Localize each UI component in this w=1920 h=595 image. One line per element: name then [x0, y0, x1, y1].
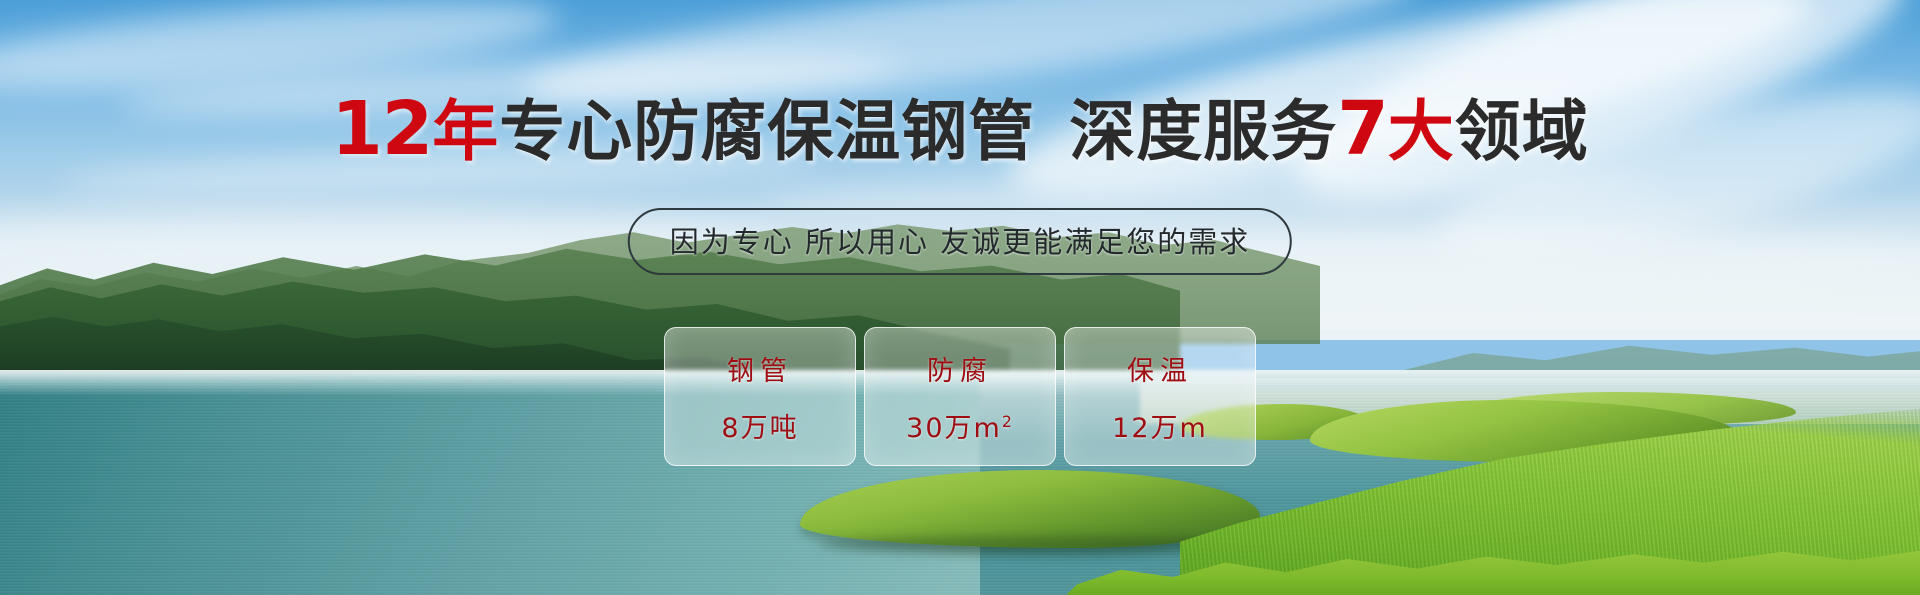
stat-card-anticorrosion[interactable]: 防腐 30万m2 — [864, 327, 1056, 466]
headline-fields-unit: 大 — [1388, 93, 1455, 170]
headline-years-unit: 年 — [432, 93, 499, 170]
stat-card-group: 钢管 8万吨 防腐 30万m2 保温 12万m — [0, 327, 1920, 466]
banner-headline: 12年专心防腐保温钢管深度服务7大领域 — [0, 92, 1920, 166]
stat-value-text: 8万吨 — [721, 413, 798, 444]
headline-main-text: 专心防腐保温钢管 — [499, 93, 1035, 170]
stat-card-insulation[interactable]: 保温 12万m — [1064, 327, 1256, 466]
stat-value-text: 12万m — [1112, 413, 1208, 444]
headline-fields-text: 领域 — [1455, 93, 1589, 170]
stat-card-value: 12万m — [1112, 406, 1208, 445]
banner-subtitle-pill: 因为专心 所以用心 友诚更能满足您的需求 — [628, 208, 1292, 275]
stat-card-title: 防腐 — [927, 349, 993, 388]
stat-value-superscript: 2 — [1002, 412, 1014, 431]
stat-card-title: 钢管 — [727, 349, 793, 388]
headline-service-text: 深度服务 — [1069, 93, 1337, 170]
headline-fields-number: 7 — [1337, 86, 1388, 172]
stat-card-steel-pipe[interactable]: 钢管 8万吨 — [664, 327, 856, 466]
stat-value-text: 30万m — [906, 413, 1002, 444]
hero-banner: 12年专心防腐保温钢管深度服务7大领域 因为专心 所以用心 友诚更能满足您的需求… — [0, 0, 1920, 595]
stat-card-value: 30万m2 — [906, 406, 1014, 445]
stat-card-value: 8万吨 — [721, 406, 798, 445]
headline-years-number: 12 — [331, 86, 432, 172]
stat-card-title: 保温 — [1127, 349, 1193, 388]
